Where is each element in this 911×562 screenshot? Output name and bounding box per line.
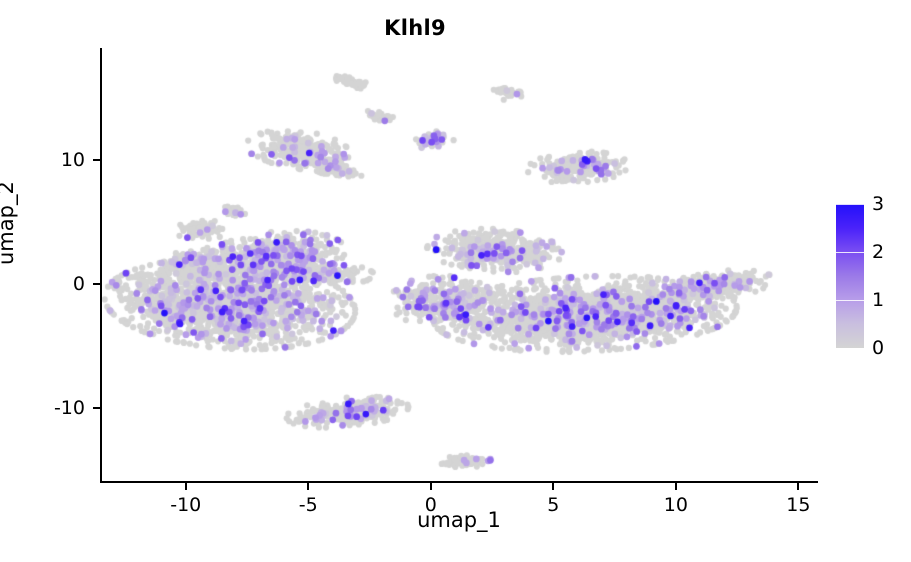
colorbar-gradient — [836, 204, 864, 348]
y-tick-label: 10 — [61, 149, 85, 171]
scatter-canvas — [100, 48, 818, 483]
y-tick — [93, 159, 100, 161]
y-tick — [93, 407, 100, 409]
y-tick-label: 0 — [73, 273, 85, 295]
colorbar-tick-label: 0 — [872, 337, 884, 359]
colorbar-tick-label: 2 — [872, 241, 884, 263]
x-axis-label: umap_1 — [100, 508, 818, 532]
page-title: Klhl9 — [0, 16, 830, 40]
y-tick-label: -10 — [54, 397, 85, 419]
colorbar-legend — [836, 204, 864, 348]
y-tick — [93, 283, 100, 285]
x-axis-spine — [100, 481, 818, 483]
colorbar-tick-label: 1 — [872, 289, 884, 311]
colorbar-tick — [836, 204, 864, 205]
x-tick — [675, 483, 677, 490]
colorbar-tick — [836, 300, 864, 301]
x-tick — [552, 483, 554, 490]
plot-axes: -10-5051015 -10010 — [100, 48, 818, 483]
y-axis-spine — [100, 48, 102, 483]
colorbar-tick — [836, 252, 864, 253]
colorbar-tick-label: 3 — [872, 193, 884, 215]
y-axis-label: umap_2 — [0, 181, 18, 265]
x-tick — [797, 483, 799, 490]
x-tick — [430, 483, 432, 490]
umap-feature-plot: Klhl9 -10-5051015 -10010 umap_1 umap_2 0… — [0, 0, 911, 562]
x-tick — [185, 483, 187, 490]
x-tick — [307, 483, 309, 490]
